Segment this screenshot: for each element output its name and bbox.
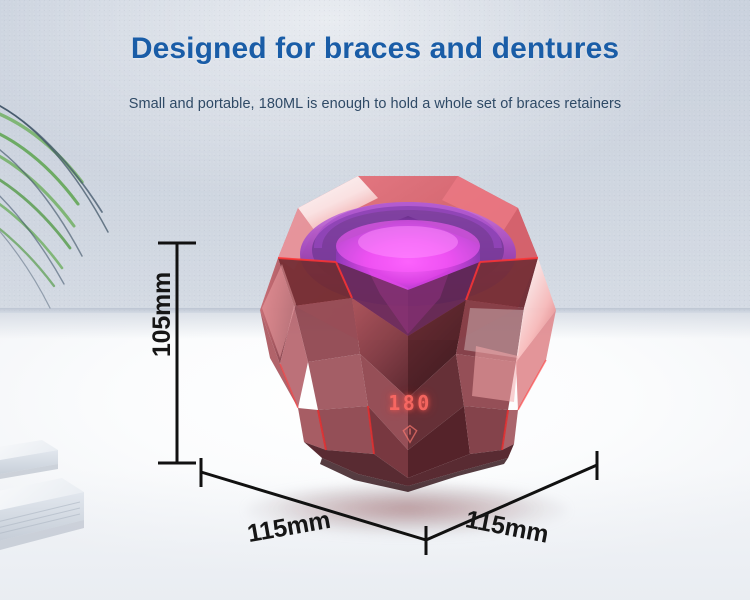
page-title: Designed for braces and dentures bbox=[0, 32, 750, 66]
height-dimension-label: 105mm bbox=[148, 272, 177, 357]
product-feature-banner: 180 105mm 115mm 115mm bbox=[0, 0, 750, 600]
page-subtitle: Small and portable, 180ML is enough to h… bbox=[0, 96, 750, 112]
dimension-overlay bbox=[0, 0, 750, 600]
